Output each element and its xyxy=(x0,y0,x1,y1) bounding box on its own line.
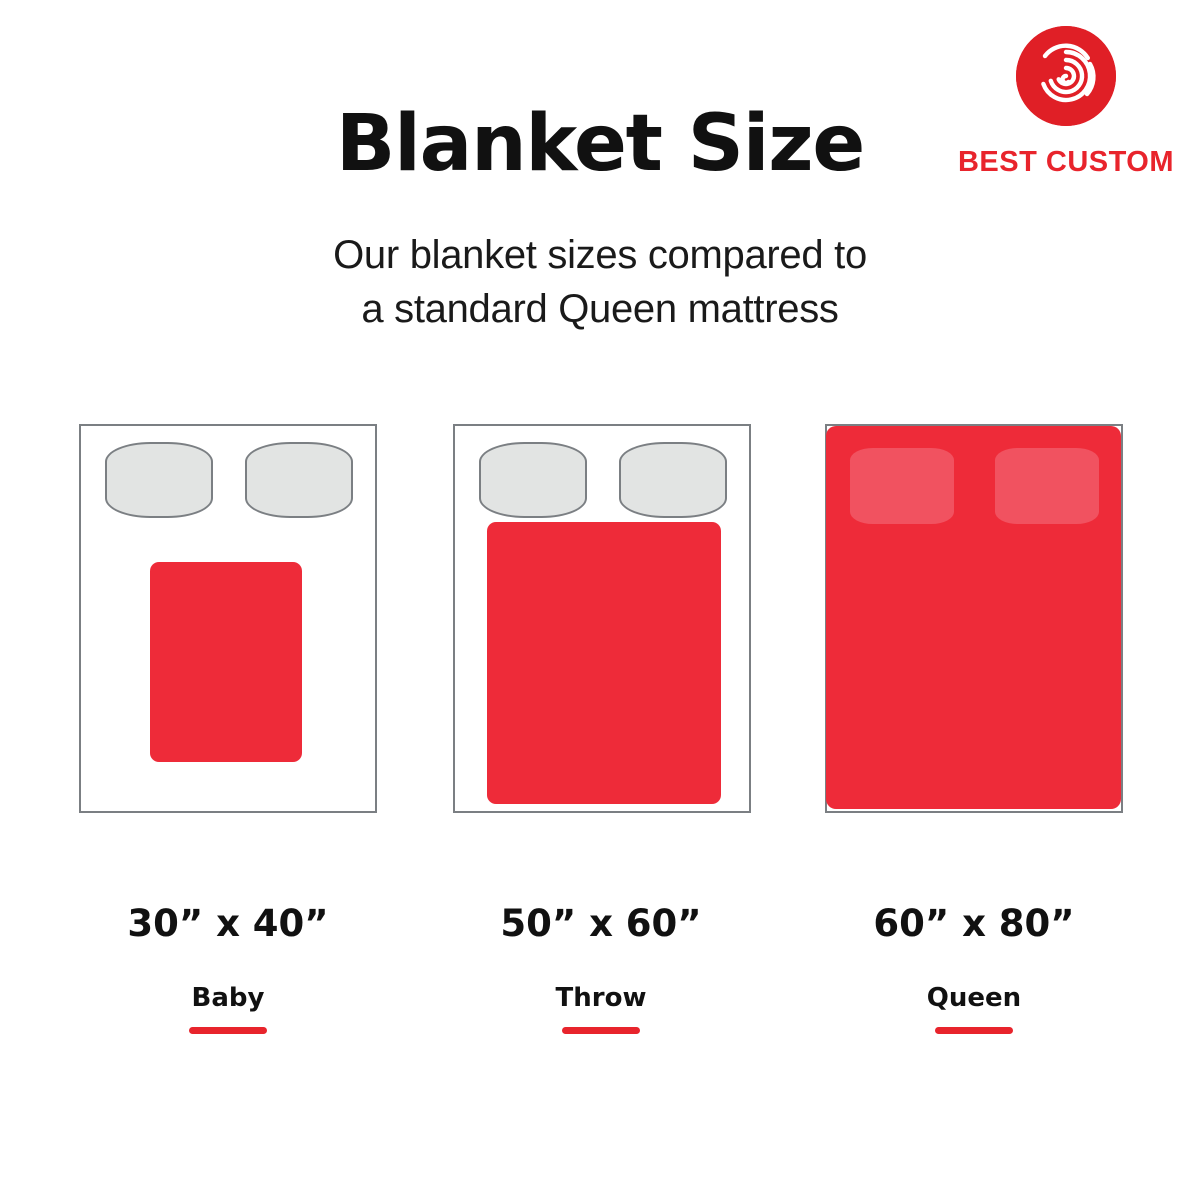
pillow-icon xyxy=(995,448,1099,524)
caption-baby: 30” x 40” Baby xyxy=(68,905,388,1034)
pillow-icon xyxy=(850,448,954,524)
page-subtitle: Our blanket sizes compared to a standard… xyxy=(0,228,1200,336)
blanket-dimensions: 60” x 80” xyxy=(814,905,1134,942)
caption-group: 30” x 40” Baby 50” x 60” Throw 60” x 80”… xyxy=(0,905,1200,1045)
accent-underline xyxy=(935,1027,1013,1034)
bed-throw xyxy=(453,424,751,813)
infographic-page: BEST CUSTOM Blanket Size Our blanket siz… xyxy=(0,0,1200,1200)
caption-queen: 60” x 80” Queen xyxy=(814,905,1134,1034)
blanket-name: Throw xyxy=(441,985,761,1011)
blanket-dimensions: 50” x 60” xyxy=(441,905,761,942)
accent-underline xyxy=(189,1027,267,1034)
pillow-icon xyxy=(245,442,353,518)
blanket-name: Queen xyxy=(814,985,1134,1011)
blanket-name: Baby xyxy=(68,985,388,1011)
caption-throw: 50” x 60” Throw xyxy=(441,905,761,1034)
blanket-queen xyxy=(826,426,1121,809)
bed-queen xyxy=(825,424,1123,813)
blanket-dimensions: 30” x 40” xyxy=(68,905,388,942)
blanket-throw xyxy=(487,522,721,804)
accent-underline xyxy=(562,1027,640,1034)
pillow-icon xyxy=(479,442,587,518)
page-title: Blanket Size xyxy=(0,103,1200,186)
bed-diagram-group xyxy=(0,424,1200,814)
pillow-icon xyxy=(619,442,727,518)
bed-baby xyxy=(79,424,377,813)
pillow-icon xyxy=(105,442,213,518)
subtitle-line-1: Our blanket sizes compared to xyxy=(0,228,1200,282)
subtitle-line-2: a standard Queen mattress xyxy=(0,282,1200,336)
blanket-baby xyxy=(150,562,302,762)
